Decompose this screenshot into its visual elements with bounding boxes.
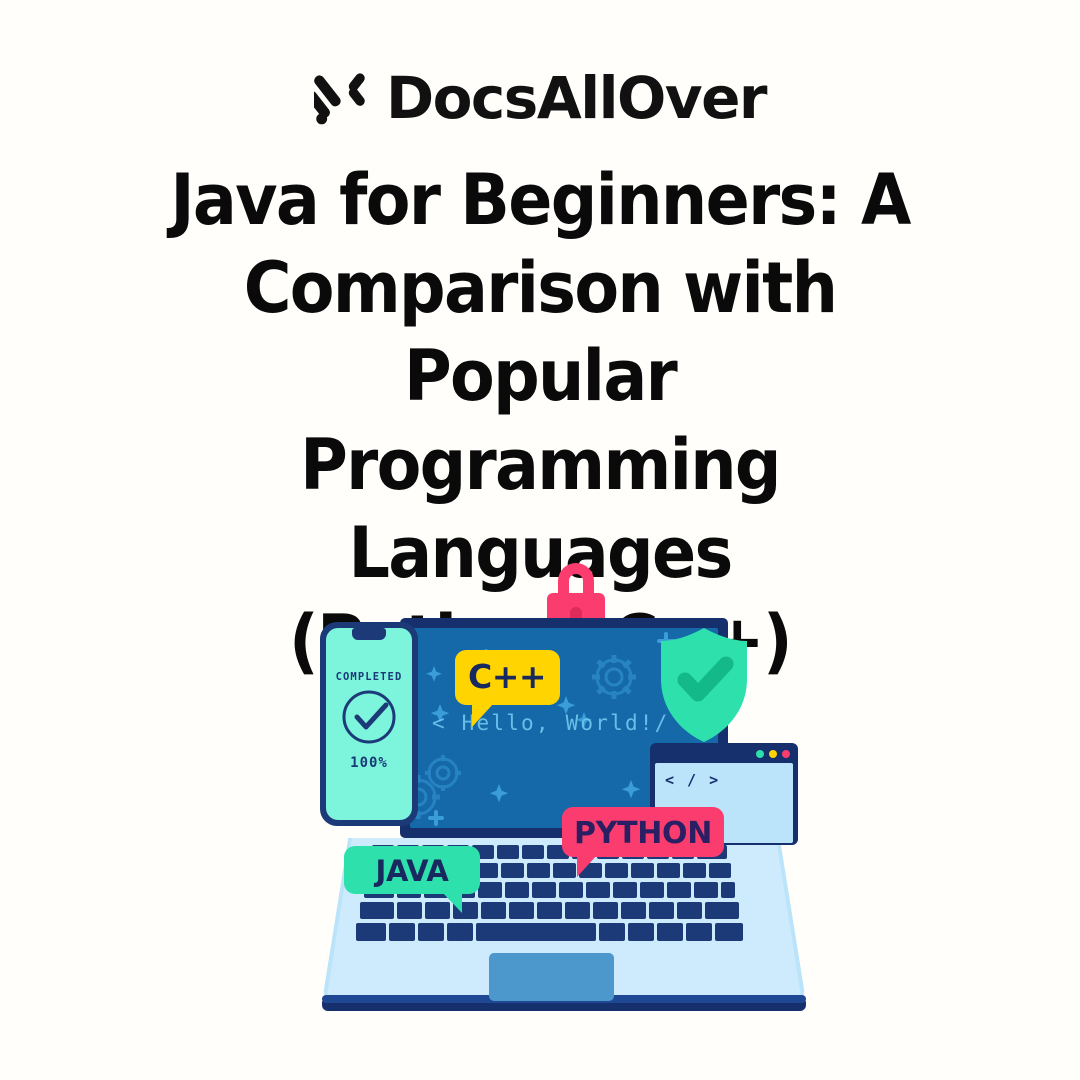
poster-canvas: DocsAllOver Java for Beginners: A Compar… [0, 0, 1080, 1080]
brand-name: DocsAllOver [386, 69, 766, 127]
badge-java-label: JAVA [374, 854, 450, 888]
phone-percent-label: 100% [350, 755, 388, 771]
page-title-line-2: Comparison with Popular [103, 244, 977, 420]
code-window-symbol: < / > [665, 771, 720, 789]
window-dot-pink [782, 750, 790, 758]
badge-python-label: PYTHON [574, 816, 712, 851]
laptop-trackpad [489, 953, 614, 1001]
window-dot-yellow [769, 750, 777, 758]
window-dot-green [756, 750, 764, 758]
page-title-line-1: Java for Beginners: A [103, 156, 977, 244]
brand-header: DocsAllOver [314, 62, 766, 134]
phone-status-label: COMPLETED [336, 671, 403, 683]
illustration-svg: < Hello, World!/ > [0, 545, 1080, 1045]
badge-cpp-label: C++ [468, 657, 546, 696]
docsallover-mark-icon [314, 69, 372, 127]
mobile-phone-mockup: COMPLETED 100% [320, 622, 418, 826]
hero-illustration: < Hello, World!/ > [0, 545, 1080, 1045]
